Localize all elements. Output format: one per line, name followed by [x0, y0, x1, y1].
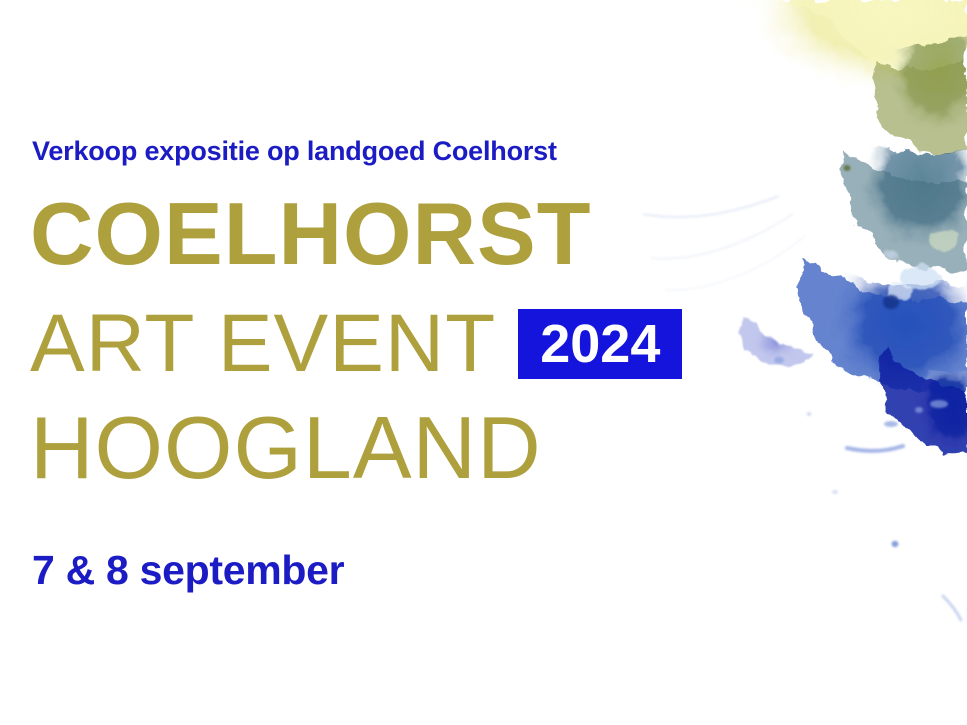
year-badge: 2024	[518, 309, 682, 379]
wash-speck	[844, 165, 900, 309]
poster-text-block: Verkoop expositie op landgoed Coelhorst …	[30, 0, 790, 725]
title-line-coelhorst: COELHORST	[30, 190, 591, 278]
title-line-hoogland: HOOGLAND	[30, 404, 542, 492]
wash-olive	[839, 34, 967, 197]
wash-blue	[769, 236, 967, 423]
poster-canvas: Verkoop expositie op landgoed Coelhorst …	[0, 0, 967, 725]
title-row-art-event: ART EVENT 2024	[30, 303, 682, 385]
tagline: Verkoop expositie op landgoed Coelhorst	[32, 136, 557, 167]
wash-highlights	[851, 229, 958, 301]
wash-deep-blue	[855, 322, 967, 471]
wash-droplets	[774, 357, 961, 620]
wash-teal	[806, 120, 967, 304]
event-dates: 7 & 8 september	[32, 550, 344, 591]
title-line-art-event: ART EVENT	[30, 303, 496, 385]
